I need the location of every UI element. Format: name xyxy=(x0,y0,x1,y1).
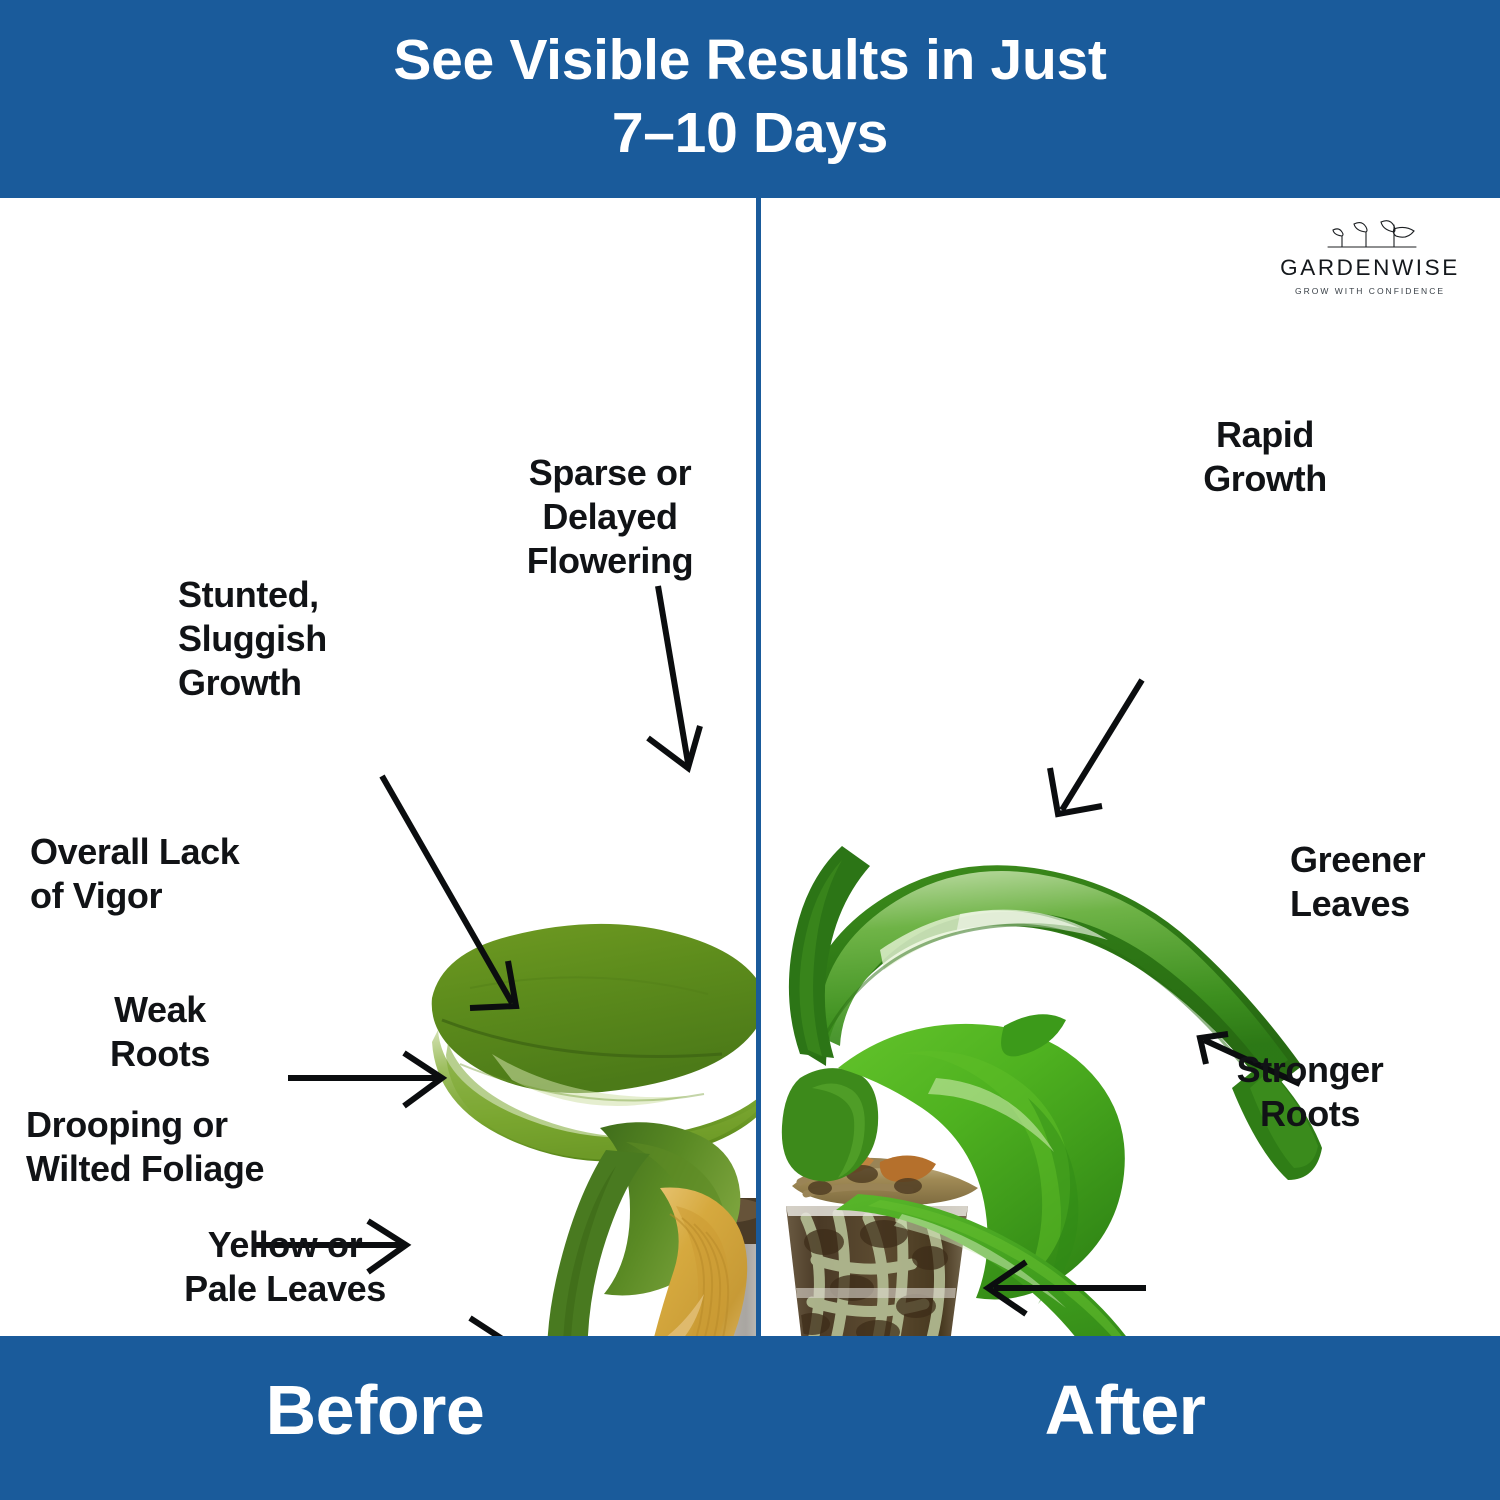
brand-logo: GARDENWISE GROW WITH CONFIDENCE xyxy=(1270,212,1470,304)
before-panel-label: Before xyxy=(0,1370,750,1450)
footer-banner: Before After xyxy=(0,1336,1500,1500)
three-sprouts-icon xyxy=(1270,212,1470,254)
annotation-label-yellow-leaves: Yellow or Pale Leaves xyxy=(140,1223,430,1311)
arrow-sparse xyxy=(648,586,700,768)
header-banner: See Visible Results in Just 7–10 Days xyxy=(0,0,1500,198)
annotation-label-stronger-roots: Stronger Roots xyxy=(1170,1048,1450,1136)
arrow-rapid xyxy=(1050,680,1142,814)
comparison-stage: GARDENWISE GROW WITH CONFIDENCE Sparse o… xyxy=(0,198,1500,1336)
annotation-label-stunted-growth: Stunted, Sluggish Growth xyxy=(178,573,418,705)
annotation-label-sparse-flowering: Sparse or Delayed Flowering xyxy=(480,451,740,583)
brand-tagline: GROW WITH CONFIDENCE xyxy=(1270,286,1470,296)
arrow-drooping xyxy=(358,1318,510,1336)
after-panel-label: After xyxy=(750,1370,1500,1450)
page-title: See Visible Results in Just 7–10 Days xyxy=(393,24,1106,174)
annotation-label-lack-of-vigor: Overall Lack of Vigor xyxy=(30,830,340,918)
annotation-label-weak-roots: Weak Roots xyxy=(60,988,260,1076)
arrow-stronger xyxy=(988,1262,1146,1314)
panel-divider xyxy=(756,198,761,1336)
brand-name: GARDENWISE xyxy=(1270,255,1470,281)
annotation-label-drooping-foliage: Drooping or Wilted Foliage xyxy=(26,1103,366,1191)
annotation-label-rapid-growth: Rapid Growth xyxy=(1155,413,1375,501)
arrow-vigor xyxy=(288,1053,442,1106)
annotation-label-greener-leaves: Greener Leaves xyxy=(1290,838,1490,926)
comparison-infographic: See Visible Results in Just 7–10 Days xyxy=(0,0,1500,1500)
before-plant-photo xyxy=(432,924,780,1336)
arrow-stunted xyxy=(382,776,516,1008)
aerial-roots xyxy=(792,1154,978,1206)
